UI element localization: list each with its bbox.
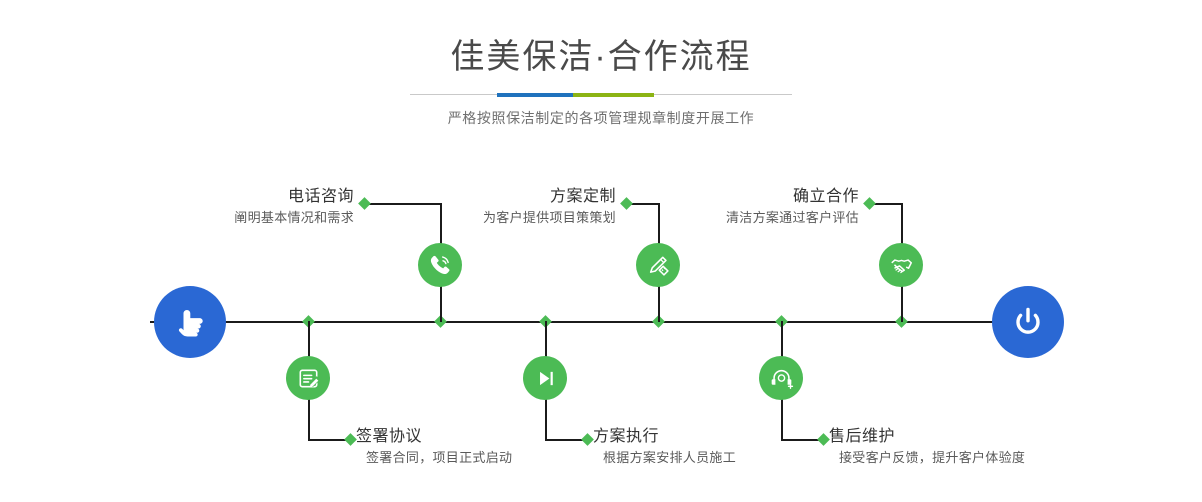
handshake-icon — [889, 253, 914, 278]
process-timeline: 电话咨询 阐明基本情况和需求 签署协议 — [0, 0, 1202, 502]
step-icon-2[interactable] — [286, 356, 330, 400]
step-icon-3[interactable] — [636, 243, 680, 287]
step-desc-3: 为客户提供项目策策划 — [370, 208, 616, 228]
label-marker-1 — [358, 197, 371, 210]
step-title-2: 签署协议 — [356, 426, 512, 448]
step-title-1: 电话咨询 — [66, 186, 354, 208]
pointing-hand-icon — [170, 302, 210, 342]
step-title-3: 方案定制 — [370, 186, 616, 208]
label-marker-4 — [581, 433, 594, 446]
step-label-1: 电话咨询 阐明基本情况和需求 — [66, 186, 354, 228]
step-title-5: 售后维护 — [829, 426, 1025, 448]
play-skip-icon — [533, 366, 558, 391]
flow-diagram-page: 佳美保洁·合作流程 严格按照保洁制定的各项管理规章制度开展工作 — [0, 0, 1202, 502]
step-label-4: 方案执行 根据方案安排人员施工 — [593, 426, 736, 468]
timeline-axis — [150, 321, 1053, 323]
timeline-end-node[interactable] — [992, 286, 1064, 358]
step-label-5: 售后维护 接受客户反馈，提升客户体验度 — [829, 426, 1025, 468]
step-label-6: 确立合作 清洁方案通过客户评估 — [610, 186, 859, 228]
step-title-4: 方案执行 — [593, 426, 736, 448]
step-label-2: 签署协议 签署合同，项目正式启动 — [356, 426, 512, 468]
step-icon-1[interactable] — [418, 243, 462, 287]
step-desc-4: 根据方案安排人员施工 — [593, 448, 736, 468]
step-icon-4[interactable] — [523, 356, 567, 400]
step-desc-5: 接受客户反馈，提升客户体验度 — [829, 448, 1025, 468]
customer-service-add-icon — [769, 366, 794, 391]
step-title-6: 确立合作 — [610, 186, 859, 208]
step-desc-1: 阐明基本情况和需求 — [66, 208, 354, 228]
step-desc-6: 清洁方案通过客户评估 — [610, 208, 859, 228]
label-marker-5 — [817, 433, 830, 446]
step-icon-5[interactable] — [759, 356, 803, 400]
step-desc-2: 签署合同，项目正式启动 — [356, 448, 512, 468]
step-label-3: 方案定制 为客户提供项目策策划 — [370, 186, 616, 228]
step-icon-6[interactable] — [879, 243, 923, 287]
pencil-ruler-icon — [646, 253, 671, 278]
label-marker-2 — [344, 433, 357, 446]
phone-call-icon — [427, 252, 453, 278]
label-marker-6 — [863, 197, 876, 210]
timeline-start-node[interactable] — [154, 286, 226, 358]
document-edit-icon — [296, 366, 321, 391]
power-icon — [1008, 302, 1048, 342]
